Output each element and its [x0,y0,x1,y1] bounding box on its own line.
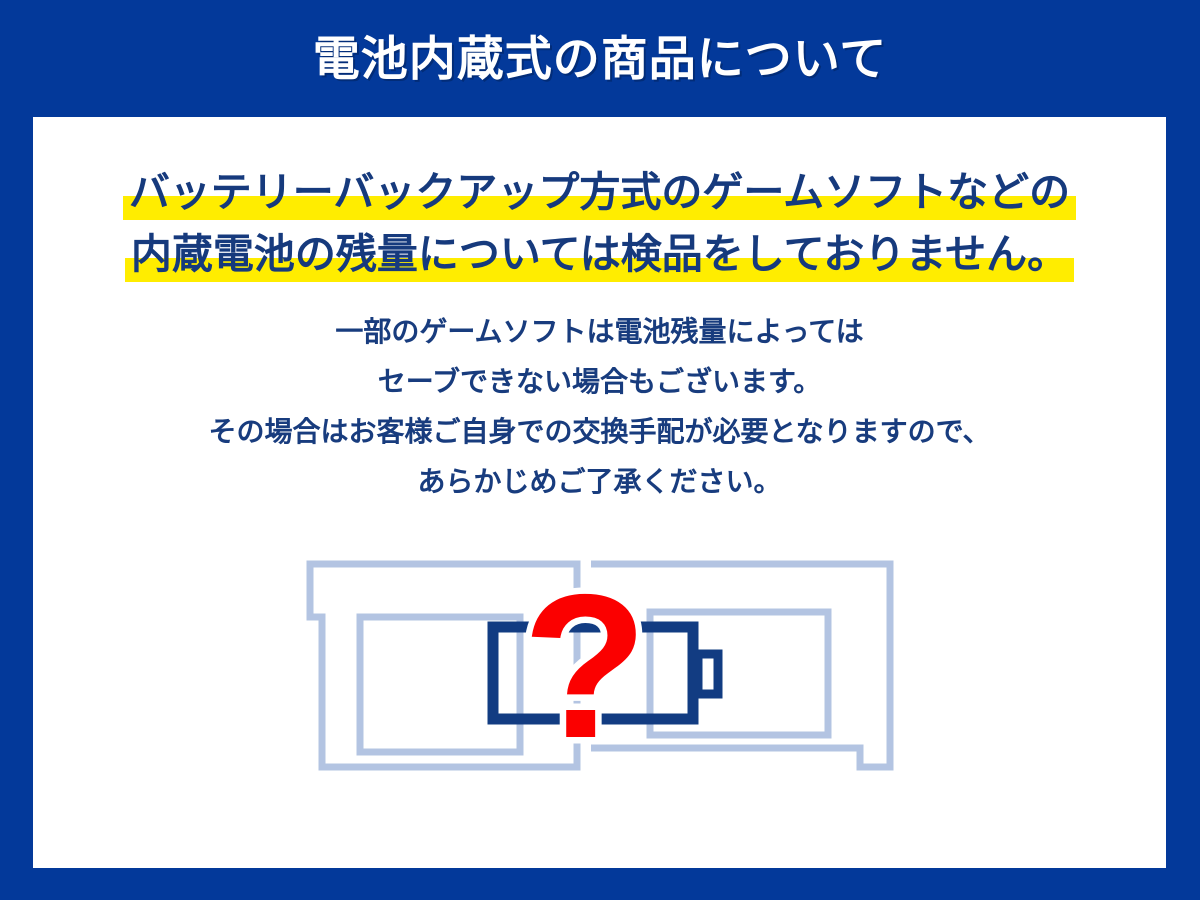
page-title: 電池内蔵式の商品について [313,35,888,82]
headline-block: バッテリーバックアップ方式のゲームソフトなどの 内蔵電池の残量については検品をし… [33,162,1166,284]
svg-text:?: ? [522,552,647,781]
headline-line: バッテリーバックアップ方式のゲームソフトなどの [33,162,1166,222]
content-card: バッテリーバックアップ方式のゲームソフトなどの 内蔵電池の残量については検品をし… [33,117,1166,868]
title-bar: 電池内蔵式の商品について [0,0,1200,117]
slide-root: 電池内蔵式の商品について バッテリーバックアップ方式のゲームソフトなどの 内蔵電… [0,0,1200,900]
headline-line-2-text: 内蔵電池の残量については検品をしておりません。 [125,224,1074,284]
illustration-block: ? [33,542,1166,842]
body-line: あらかじめご了承ください。 [33,457,1166,507]
question-mark-icon: ? [522,552,647,781]
body-line: 一部のゲームソフトは電池残量によっては [33,307,1166,357]
body-paragraph: 一部のゲームソフトは電池残量によっては セーブできない場合もございます。 その場… [33,307,1166,507]
headline-line-1-text: バッテリーバックアップ方式のゲームソフトなどの [123,162,1076,222]
body-line: その場合はお客様ご自身での交換手配が必要となりますので、 [33,407,1166,457]
body-line: セーブできない場合もございます。 [33,357,1166,407]
battery-cartridge-illustration: ? [280,542,920,792]
headline-line: 内蔵電池の残量については検品をしておりません。 [33,224,1166,284]
